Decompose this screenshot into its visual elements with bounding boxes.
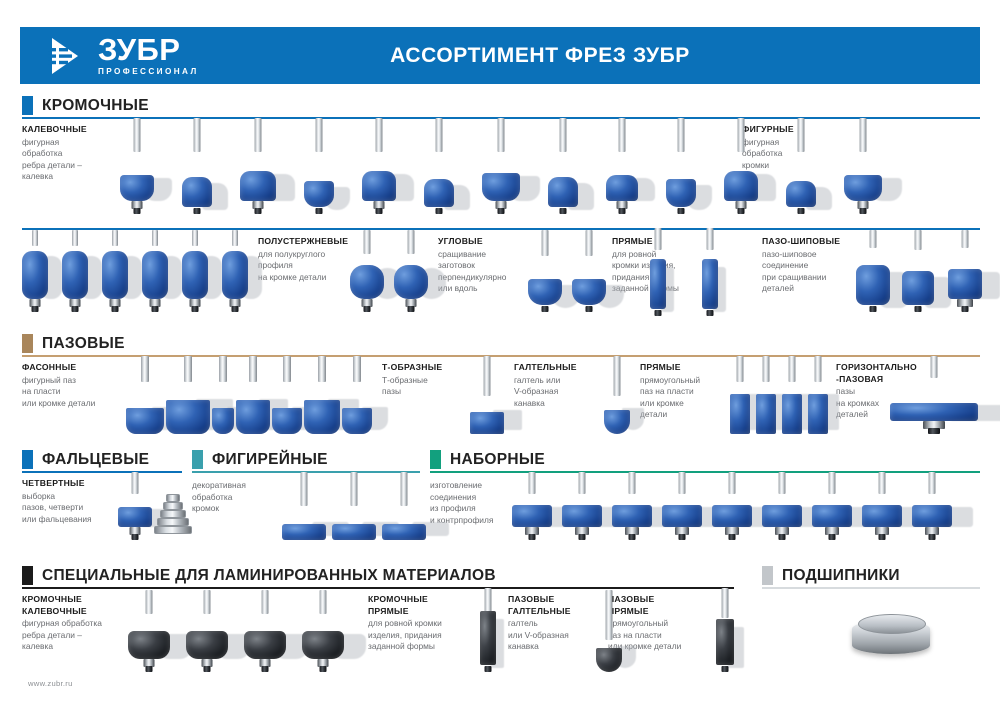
brand-tagline: ПРОФЕССИОНАЛ [98,67,199,76]
router-bit-image [142,230,168,312]
block-uglovye: УГЛОВЫЕ сращивание заготовок перпендикул… [438,236,538,295]
block-title: ПРЯМЫЕ [640,362,730,374]
section-title: КРОМОЧНЫЕ [42,97,149,115]
bit-images-polusterzhnevye [350,230,434,312]
router-bit-image [612,472,652,540]
router-bit-image [482,118,520,214]
router-bit-image [548,118,578,214]
router-bit-image [650,228,666,316]
section-title: ФИГИРЕЙНЫЕ [212,451,328,469]
section-rule-podshipniki [762,587,980,589]
bit-images-t-obraznye [470,356,512,434]
router-bit-image [666,118,696,214]
router-bit-image [166,356,210,434]
block-nabornye-desc: изготовление соединения из профиля и кон… [430,480,522,526]
router-bit-image [572,230,606,312]
block-desc: сращивание заготовок перпендикулярно или… [438,249,538,295]
section-header-podshipniki: ПОДШИПНИКИ [762,566,900,585]
bit-images-fasonnye [126,356,376,434]
block-figireynye-desc: декоративная обработка кромок [192,480,280,515]
section-header-kromochnye: КРОМОЧНЫЕ [22,96,149,115]
router-bit-image [182,118,212,214]
router-bit-image [350,230,384,312]
section-title: ПАЗОВЫЕ [42,335,125,353]
bit-images-nabornye [512,472,982,540]
block-desc: галтель или V-образная канавка [508,618,603,653]
poster-header: ЗУБР ПРОФЕССИОНАЛ АССОРТИМЕНТ ФРЕЗ ЗУБР [20,27,980,84]
router-bit-image [562,472,602,540]
bit-images-laminat-pryamye [480,588,510,672]
router-bit-image [304,118,334,214]
bit-images-laminat-kromochnye [128,590,364,672]
router-bit-image [240,118,276,214]
router-bit-image [902,230,934,312]
brand-name: ЗУБР [98,35,199,64]
router-bit-image [912,472,952,540]
router-bit-image [272,356,302,434]
router-bit-image [512,472,552,540]
router-bit-image [762,472,802,540]
router-bit-image [342,356,372,434]
router-bit-image [222,230,248,312]
bit-images-figireynye [282,472,430,540]
block-desc: изготовление соединения из профиля и кон… [430,480,522,526]
router-bit-image [890,356,978,434]
router-bit-image [604,356,630,434]
bit-images-laminat-pazovye-pryamye [716,588,746,672]
block-pazo-shipovye: ПАЗО-ШИПОВЫЕ пазо-шиповое соединение при… [762,236,862,295]
block-desc: декоративная обработка кромок [192,480,280,515]
brand-logo: ЗУБР ПРОФЕССИОНАЛ [20,27,270,84]
router-bit-image [126,356,164,434]
router-bit-image [808,356,828,434]
block-title: ГАЛТЕЛЬНЫЕ [514,362,604,374]
router-bit-image [948,230,982,312]
zubr-arrow-icon [48,34,92,78]
block-title: КРОМОЧНЫЕ КАЛЕВОЧНЫЕ [22,594,132,617]
section-accent-bar [22,96,33,115]
router-bit-image [302,590,344,672]
router-bit-image [102,230,128,312]
router-bit-image [212,356,234,434]
footer-url[interactable]: www.zubr.ru [28,679,73,688]
router-bit-image [182,230,208,312]
bearing-stack-image [148,472,194,540]
router-bit-image [756,356,776,434]
section-header-nabornye: НАБОРНЫЕ [430,450,545,469]
block-desc: фигурная обработка ребра детали – калевк… [22,618,132,653]
bit-images-polusterzhnevye-left [22,230,252,312]
router-bit-image [244,590,286,672]
section-accent-bar [22,450,33,469]
block-desc: выборка пазов, четверти или фальцевания [22,491,122,526]
block-galtelnye: ГАЛТЕЛЬНЫЕ галтель или V-образная канавк… [514,362,604,409]
block-title: УГЛОВЫЕ [438,236,538,248]
router-bit-image [480,588,496,672]
block-title: ЧЕТВЕРТНЫЕ [22,478,122,490]
block-title: КАЛЕВОЧНЫЕ [22,124,122,136]
section-title: НАБОРНЫЕ [450,451,545,469]
bearing-stack-icon [154,494,192,534]
bit-images-laminat-galtelnye [596,590,626,672]
router-bit-image [118,472,152,540]
block-desc: прямоугольный паз на пласти или кромке д… [640,375,730,421]
bit-images-pryamye-paz [730,356,834,434]
bit-images-pazo-shipovye [856,230,984,312]
block-desc: пазо-шиповое соединение при сращивании д… [762,249,862,295]
section-header-laminirovannye: СПЕЦИАЛЬНЫЕ ДЛЯ ЛАМИНИРОВАННЫХ МАТЕРИАЛО… [22,566,496,585]
router-bit-image [712,472,752,540]
page-title: АССОРТИМЕНТ ФРЕЗ ЗУБР [270,44,980,68]
router-bit-image [702,228,718,316]
bearing-image [852,600,932,662]
section-header-pazovye: ПАЗОВЫЕ [22,334,125,353]
router-bit-image [186,590,228,672]
router-bit-image [606,118,638,214]
bearing-inner-ring [858,614,926,634]
block-kalevochnye: КАЛЕВОЧНЫЕ фигурная обработка ребра дета… [22,124,122,183]
section-rule-laminirovannye [22,587,734,589]
section-accent-bar [22,334,33,353]
router-bit-image [528,230,562,312]
block-title: ФАСОННЫЕ [22,362,127,374]
bit-images-uglovye [528,230,610,312]
router-bit-image [716,588,734,672]
router-bit-image [786,118,816,214]
block-kromochnye-pryamye: КРОМОЧНЫЕ ПРЯМЫЕ для ровной кромки издел… [368,594,480,653]
block-title: ПАЗОВЫЕ ГАЛТЕЛЬНЫЕ [508,594,603,617]
block-desc: галтель или V-образная канавка [514,375,604,410]
router-bit-image [382,472,426,540]
section-title: ФАЛЬЦЕВЫЕ [42,451,149,469]
poster-root: ЗУБР ПРОФЕССИОНАЛ АССОРТИМЕНТ ФРЕЗ ЗУБР … [0,0,1000,707]
router-bit-image [332,472,376,540]
block-fasonnye: ФАСОННЫЕ фигурный паз на пласти или кром… [22,362,127,409]
router-bit-image [362,118,396,214]
bit-images-kromochnye [120,118,990,214]
section-accent-bar [430,450,441,469]
router-bit-image [856,230,890,312]
section-accent-bar [192,450,203,469]
section-title: ПОДШИПНИКИ [782,567,900,585]
block-pryamye-paz: ПРЯМЫЕ прямоугольный паз на пласти или к… [640,362,730,421]
block-title: ПАЗО-ШИПОВЫЕ [762,236,862,248]
router-bit-image [304,356,340,434]
router-bit-image [470,356,504,434]
block-polusterzhnevye: ПОЛУСТЕРЖНЕВЫЕ для полукруглого профиля … [258,236,363,283]
router-bit-image [724,118,758,214]
block-desc: фигурный паз на пласти или кромке детали [22,375,127,410]
router-bit-image [120,118,154,214]
router-bit-image [730,356,750,434]
bit-images-gorizontalno [890,356,984,434]
block-chetvertnye: ЧЕТВЕРТНЫЕ выборка пазов, четверти или ф… [22,478,122,525]
block-desc: для полукруглого профиля на кромке детал… [258,249,363,284]
block-kromochnye-kalevochnye: КРОМОЧНЫЕ КАЛЕВОЧНЫЕ фигурная обработка … [22,594,132,653]
router-bit-image [424,118,454,214]
block-desc: для ровной кромки изделия, придания зада… [368,618,480,653]
block-title: Т-ОБРАЗНЫЕ [382,362,470,374]
bit-images-galtelnye [604,356,640,434]
section-title: СПЕЦИАЛЬНЫЕ ДЛЯ ЛАМИНИРОВАННЫХ МАТЕРИАЛО… [42,567,496,585]
block-title: КРОМОЧНЫЕ ПРЯМЫЕ [368,594,480,617]
router-bit-image [236,356,270,434]
router-bit-image [782,356,802,434]
section-accent-bar [22,566,33,585]
router-bit-image [394,230,428,312]
section-header-faltsevye: ФАЛЬЦЕВЫЕ [22,450,149,469]
router-bit-image [22,230,48,312]
section-accent-bar [762,566,773,585]
router-bit-image [282,472,326,540]
router-bit-image [662,472,702,540]
block-t-obraznye: Т-ОБРАЗНЫЕ Т-образные пазы [382,362,470,398]
bit-images-pryamye [650,228,754,316]
block-title: ПОЛУСТЕРЖНЕВЫЕ [258,236,363,248]
block-pazovye-galtelnye: ПАЗОВЫЕ ГАЛТЕЛЬНЫЕ галтель или V-образна… [508,594,603,653]
router-bit-image [62,230,88,312]
router-bit-image [128,590,170,672]
section-header-figireynye: ФИГИРЕЙНЫЕ [192,450,328,469]
block-desc: Т-образные пазы [382,375,470,398]
block-desc: фигурная обработка ребра детали – калевк… [22,137,122,183]
router-bit-image [812,472,852,540]
router-bit-image [596,590,622,672]
router-bit-image [844,118,882,214]
router-bit-image [862,472,902,540]
